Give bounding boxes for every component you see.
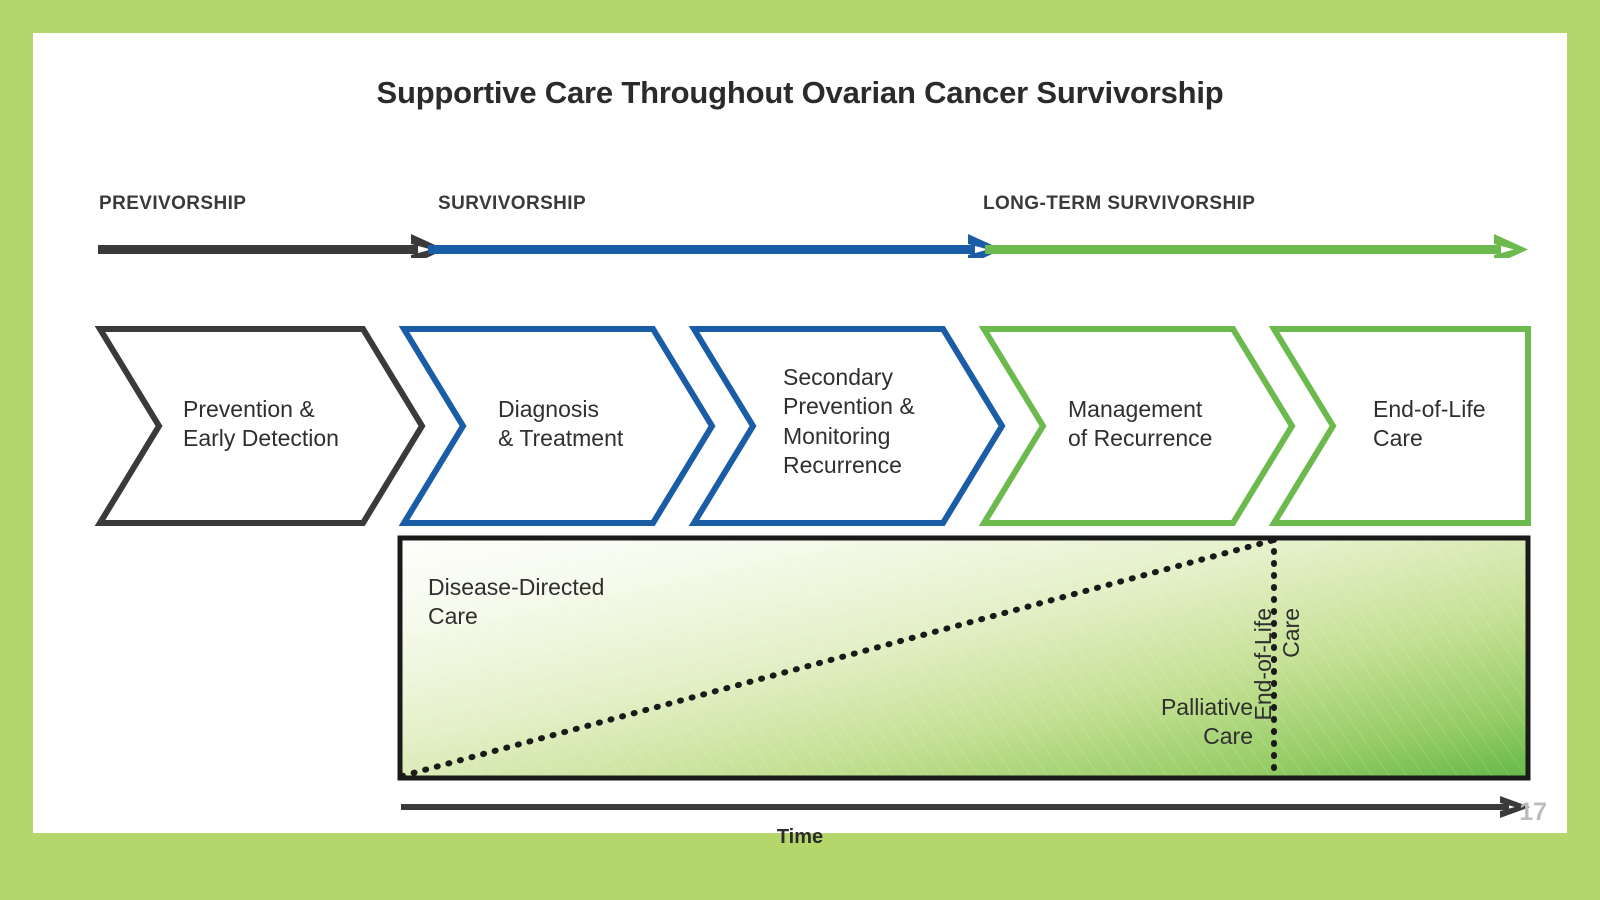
time-axis-arrow bbox=[53, 793, 1547, 823]
page-title: Supportive Care Throughout Ovarian Cance… bbox=[33, 75, 1567, 111]
stage-label-3: Secondary Prevention & Monitoring Recurr… bbox=[783, 363, 993, 481]
timeline-arrow-previvorship bbox=[98, 234, 445, 258]
page-number: 17 bbox=[1519, 798, 1547, 827]
slide-canvas: Supportive Care Throughout Ovarian Cance… bbox=[33, 33, 1567, 833]
stage-label-2: Diagnosis & Treatment bbox=[498, 395, 698, 454]
stage-label-4: Management of Recurrence bbox=[1068, 395, 1283, 454]
care-gradient-block bbox=[53, 503, 1547, 793]
care-label-end-of-life: End-of-Life Care bbox=[1249, 608, 1305, 808]
timeline-arrows bbox=[53, 208, 1547, 258]
timeline-arrow-long-term bbox=[985, 234, 1528, 258]
stage-label-1: Prevention & Early Detection bbox=[183, 395, 403, 454]
care-label-disease-directed: Disease-Directed Care bbox=[428, 573, 604, 632]
stage-label-5: End-of-Life Care bbox=[1373, 395, 1533, 454]
care-label-palliative: Palliative Care bbox=[1063, 693, 1253, 752]
time-axis-label: Time bbox=[33, 826, 1567, 849]
timeline-arrow-survivorship bbox=[428, 234, 1002, 258]
